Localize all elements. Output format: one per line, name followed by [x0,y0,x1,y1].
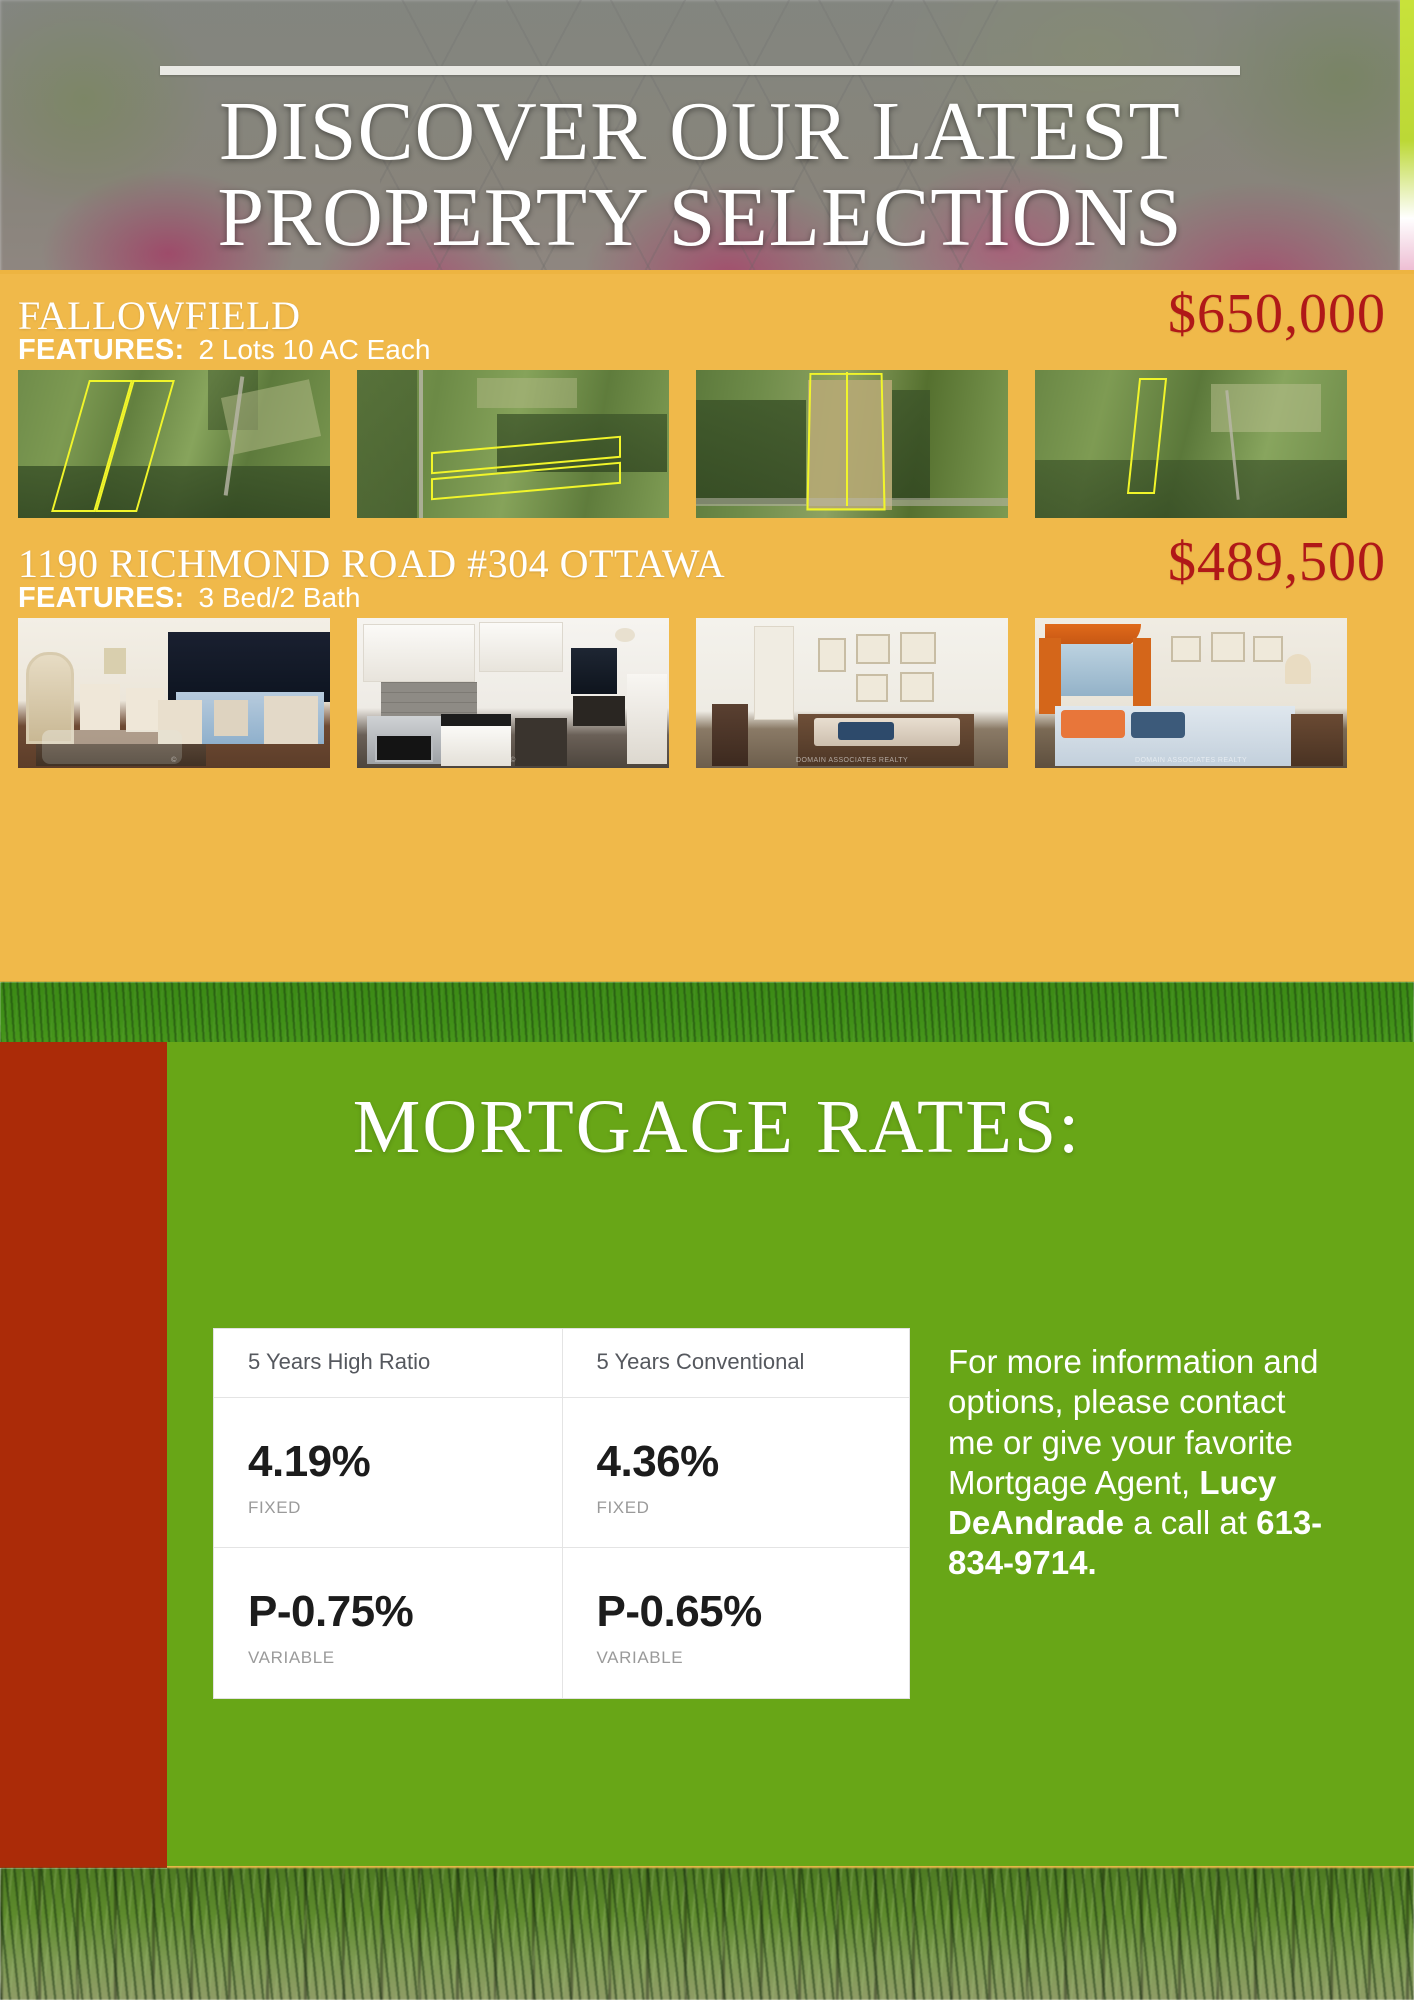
contact-text-middle: a call at [1124,1504,1256,1541]
listing-photo-row [0,370,1414,518]
listing-price: $650,000 [1168,282,1386,346]
features-value: 2 Lots 10 AC Each [199,334,431,366]
rate-table-header-conventional: 5 Years Conventional [562,1329,910,1398]
mortgage-title: MORTGAGE RATES: [167,1084,1267,1171]
aerial-land-parcel-3-photo[interactable] [696,370,1008,518]
listing-title: FALLOWFIELD [18,292,301,339]
interior-kitchen-photo[interactable]: © [357,618,669,768]
interior-living-room-photo[interactable]: © [18,618,330,768]
hero-title-line-1: DISCOVER OUR LATEST [219,85,1181,178]
rate-value: P-0.65% [597,1590,882,1634]
photo-watermark: DOMAIN ASSOCIATES REALTY [1135,757,1247,764]
hero-rule-top [160,66,1240,75]
hero-title-line-2: PROPERTY SELECTIONS [140,175,1260,261]
aerial-land-parcel-4-photo[interactable] [1035,370,1347,518]
listing-price: $489,500 [1168,530,1386,594]
rate-value: 4.19% [248,1440,534,1484]
rate-kind-label: VARIABLE [597,1648,882,1668]
interior-bedroom-1-photo[interactable]: DOMAIN ASSOCIATES REALTY [696,618,1008,768]
listing-features: FEATURES: 3 Bed/2 Bath [18,582,360,615]
features-value: 3 Bed/2 Bath [199,582,361,614]
grass-divider-strip [0,982,1414,1050]
gold-top-edge [0,270,1414,274]
photo-watermark: DOMAIN ASSOCIATES REALTY [796,757,908,764]
rate-kind-label: VARIABLE [248,1648,534,1668]
rate-cell-variable-conventional: P-0.65% VARIABLE [562,1548,910,1698]
contact-paragraph: For more information and options, please… [948,1342,1338,1584]
photo-watermark: © [171,757,177,764]
photo-watermark: © [510,757,516,764]
rate-value: P-0.75% [248,1590,534,1634]
rate-cell-variable-high-ratio: P-0.75% VARIABLE [214,1548,562,1698]
footer-grass-photo [0,1868,1414,2000]
rate-table-header-high-ratio: 5 Years High Ratio [214,1329,562,1398]
rate-cell-fixed-conventional: 4.36% FIXED [562,1398,910,1548]
page-title: DISCOVER OUR LATEST PROPERTY SELECTIONS [140,89,1260,260]
aerial-land-parcel-2-photo[interactable] [357,370,669,518]
rate-cell-fixed-high-ratio: 4.19% FIXED [214,1398,562,1548]
rust-accent-bar [0,1042,167,1868]
features-label: FEATURES: [18,334,185,367]
listing-card-fallowfield[interactable]: FALLOWFIELD $650,000 FEATURES: 2 Lots 10… [0,284,1414,518]
listing-title: 1190 RICHMOND ROAD #304 OTTAWA [18,540,725,587]
aerial-land-parcel-1-photo[interactable] [18,370,330,518]
listing-card-richmond-road[interactable]: 1190 RICHMOND ROAD #304 OTTAWA $489,500 … [0,532,1414,768]
rate-value: 4.36% [597,1440,882,1484]
mortgage-section: MORTGAGE RATES: 5 Years High Ratio 5 Yea… [0,1042,1414,1868]
interior-bedroom-2-photo[interactable]: DOMAIN ASSOCIATES REALTY [1035,618,1347,768]
listing-photo-row: © [0,618,1414,768]
rate-kind-label: FIXED [248,1498,534,1518]
listing-features: FEATURES: 2 Lots 10 AC Each [18,334,430,367]
listings-section: FALLOWFIELD $650,000 FEATURES: 2 Lots 10… [0,270,1414,982]
mortgage-rate-table: 5 Years High Ratio 5 Years Conventional … [213,1328,910,1699]
flyer-page: DISCOVER OUR LATEST PROPERTY SELECTIONS … [0,0,1414,2000]
features-label: FEATURES: [18,582,185,615]
rate-kind-label: FIXED [597,1498,882,1518]
